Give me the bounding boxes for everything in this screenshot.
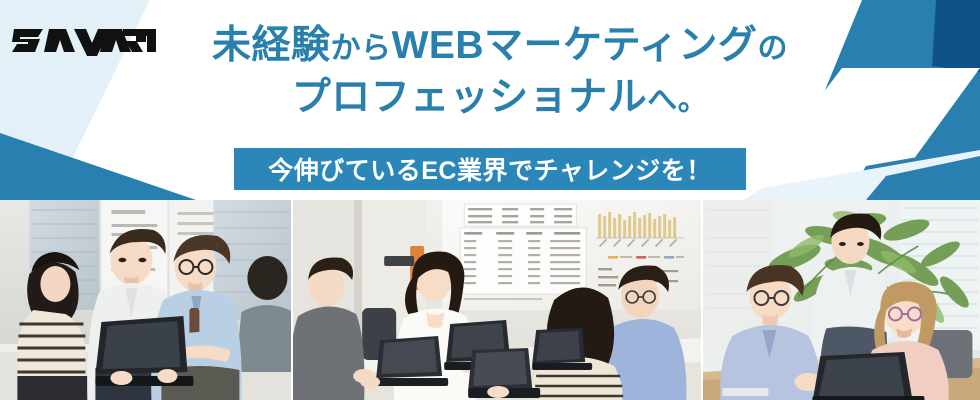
headline-seg-3: WEBマーケティング xyxy=(392,24,758,67)
photo-2-image xyxy=(293,200,701,400)
photo-strip xyxy=(0,200,980,400)
photo-1-image xyxy=(0,200,291,400)
hero-area: 未経験からWEBマーケティングの プロフェッショナルへ。 今伸びているEC業界で… xyxy=(0,0,980,200)
savari-logo[interactable] xyxy=(12,21,157,61)
headline-seg-6: へ。 xyxy=(647,84,708,117)
headline-seg-2: から xyxy=(331,32,392,65)
headline-seg-5: プロフェッショナル xyxy=(292,76,648,119)
headline-seg-1: 未経験 xyxy=(212,24,331,67)
photo-desk-collaboration-plants xyxy=(701,200,980,400)
photo-meeting-room-presentation xyxy=(291,200,701,400)
recruitment-banner: 未経験からWEBマーケティングの プロフェッショナルへ。 今伸びているEC業界で… xyxy=(0,0,980,400)
photo-office-laptop-discussion xyxy=(0,200,291,400)
right-navy-triangle xyxy=(932,0,980,72)
headline-line-2: プロフェッショナルへ。 xyxy=(150,78,850,117)
photo-3-image xyxy=(703,200,980,400)
tagline-badge: 今伸びているEC業界でチャレンジを！ xyxy=(234,148,746,190)
headline-seg-4: の xyxy=(757,32,788,65)
headline-line-1: 未経験からWEBマーケティングの xyxy=(150,26,850,65)
savari-logo-mark xyxy=(12,21,157,61)
headline: 未経験からWEBマーケティングの プロフェッショナルへ。 xyxy=(150,26,850,117)
